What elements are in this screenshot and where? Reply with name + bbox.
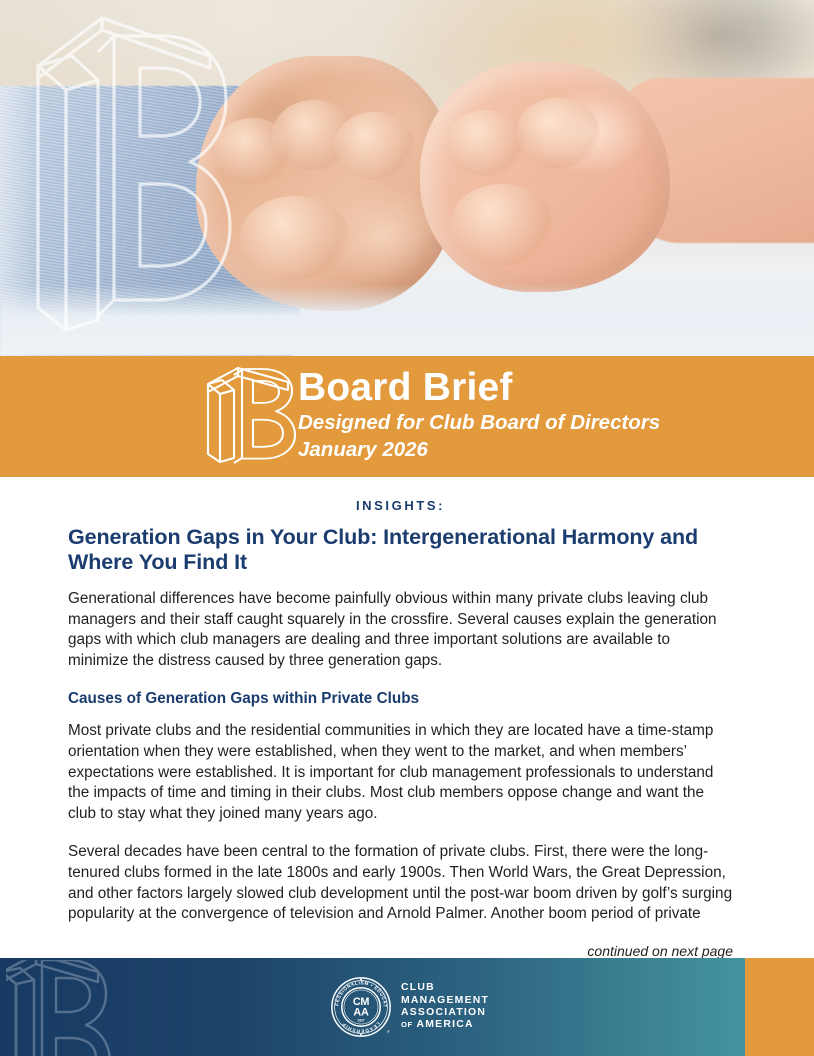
insights-eyebrow: INSIGHTS: (68, 498, 733, 513)
cmaa-seal-icon: PROFESSIONALISM • EDUCATION LEADERSHIP C… (330, 976, 392, 1038)
ib-monogram-watermark-icon (10, 8, 236, 356)
young-fist (420, 62, 670, 292)
svg-text:®: ® (387, 1030, 390, 1034)
svg-text:AA: AA (353, 1006, 369, 1018)
publication-date: January 2026 (298, 438, 660, 462)
publication-subtitle: Designed for Club Board of Directors (298, 411, 660, 435)
knuckle-shape (446, 110, 526, 176)
article-headline: Generation Gaps in Your Club: Intergener… (68, 525, 733, 575)
article-subheading: Causes of Generation Gaps within Private… (68, 689, 733, 709)
ib-monogram-icon (196, 364, 300, 470)
cmaa-america-word: AMERICA (417, 1019, 474, 1030)
page-footer: PROFESSIONALISM • EDUCATION LEADERSHIP C… (0, 958, 814, 1056)
knuckle-shape (516, 98, 600, 168)
knuckle-shape (334, 112, 414, 180)
title-band-text: Board Brief Designed for Club Board of D… (298, 366, 660, 462)
article-paragraph: Generational differences have become pai… (68, 589, 733, 671)
thumb-shape (240, 196, 350, 280)
cmaa-line-association: ASSOCIATION (401, 1007, 489, 1019)
continued-note: continued on next page (68, 943, 733, 959)
ib-monogram-icon (6, 960, 114, 1056)
cmaa-line-club: CLUB (401, 982, 489, 994)
hero-image (0, 0, 814, 356)
cmaa-line-america: of AMERICA (401, 1019, 489, 1031)
article-paragraph: Most private clubs and the residential c… (68, 721, 733, 824)
article-content: INSIGHTS: Generation Gaps in Your Club: … (68, 498, 733, 959)
footer-accent-block (745, 958, 814, 1056)
svg-text:1927: 1927 (357, 1019, 364, 1023)
thumb-shape (450, 184, 554, 266)
cmaa-wordmark: CLUB MANAGEMENT ASSOCIATION of AMERICA (401, 982, 489, 1032)
cmaa-line-management: MANAGEMENT (401, 995, 489, 1007)
cmaa-logo: PROFESSIONALISM • EDUCATION LEADERSHIP C… (330, 976, 489, 1038)
publication-title: Board Brief (298, 366, 660, 410)
cmaa-of-word: of (401, 1020, 413, 1029)
title-band: Board Brief Designed for Club Board of D… (0, 356, 814, 477)
article-paragraph: Several decades have been central to the… (68, 842, 733, 924)
